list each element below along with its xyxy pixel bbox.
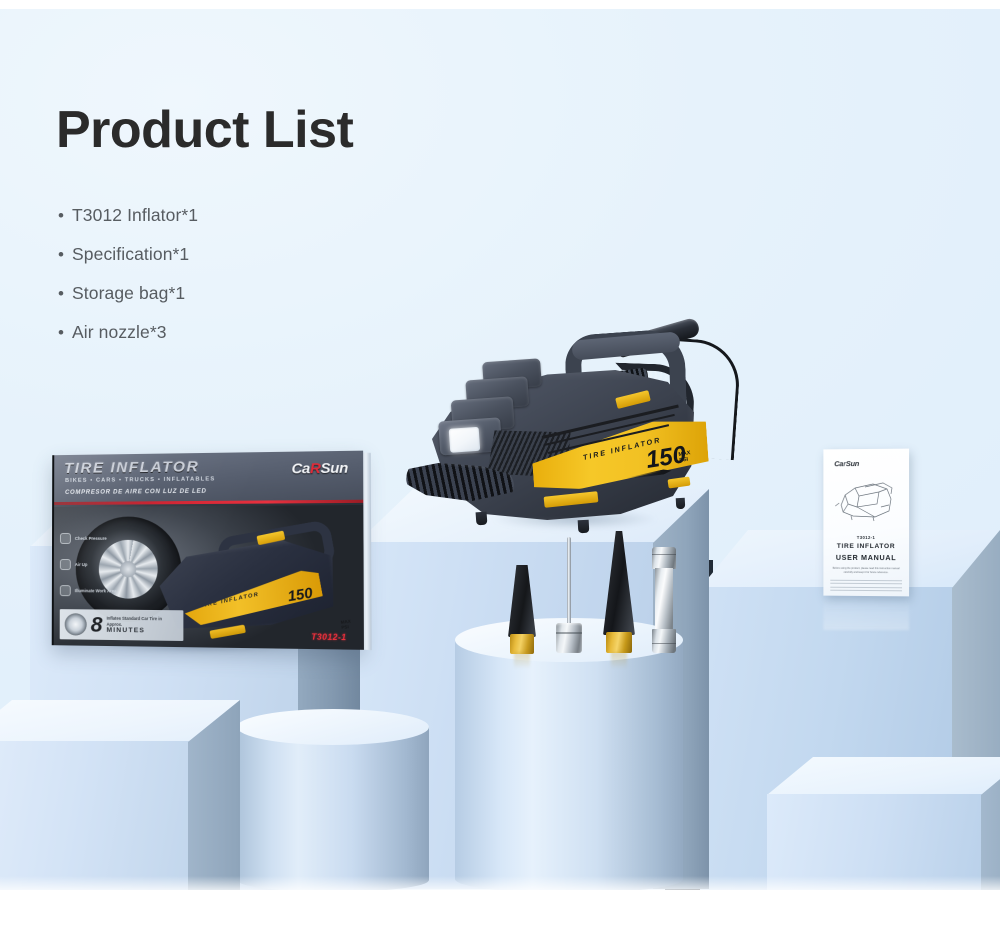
rubber-foot bbox=[476, 512, 488, 526]
yellow-accent-rear bbox=[667, 477, 690, 489]
nozzle-cone-body bbox=[603, 531, 635, 635]
top-white-margin bbox=[0, 0, 1000, 9]
manual-title-line2: USER MANUAL bbox=[823, 553, 909, 562]
bullet-icon: • bbox=[58, 324, 72, 341]
list-item: • Storage bag*1 bbox=[58, 283, 388, 304]
box-front-face: Check Pressure Air Up Illuminate Work Ar… bbox=[52, 451, 364, 650]
cone-nozzle-long bbox=[603, 531, 635, 653]
manual-reflection bbox=[823, 596, 909, 630]
nozzle-needle-shaft bbox=[567, 537, 571, 627]
nozzle-brass-base bbox=[606, 632, 632, 653]
podium-front-left-block bbox=[0, 700, 240, 892]
cylinder-body bbox=[237, 727, 429, 892]
manual-brand-suffix: Sun bbox=[846, 459, 859, 468]
podium-top-face bbox=[767, 757, 1000, 795]
manual-brand-prefix: Ca bbox=[834, 459, 843, 468]
needle-nozzle bbox=[556, 537, 582, 653]
manual-text-rules bbox=[830, 580, 902, 594]
nozzle-steel-base bbox=[556, 623, 582, 653]
bullet-icon: • bbox=[58, 285, 72, 302]
podium-front-right-block bbox=[767, 757, 1000, 893]
page-title: Product List bbox=[56, 100, 353, 160]
list-item-label: Storage bag*1 bbox=[72, 283, 185, 304]
inflator-psi-unit: MAX PSI bbox=[678, 450, 692, 464]
retail-box-packaging: Check Pressure Air Up Illuminate Work Ar… bbox=[52, 451, 364, 650]
nozzle-brass-base bbox=[510, 634, 534, 654]
bullet-icon: • bbox=[58, 246, 72, 263]
podium-front-cylinder bbox=[237, 709, 429, 892]
list-item: • Specification*1 bbox=[58, 244, 388, 265]
rubber-foot bbox=[578, 520, 590, 534]
list-item-label: Specification*1 bbox=[72, 244, 189, 265]
manual-product-line-drawing bbox=[835, 475, 897, 525]
podium-center-cylinder bbox=[455, 618, 683, 893]
nozzle-cone-body bbox=[508, 565, 536, 637]
product-list-items: • T3012 Inflator*1 • Specification*1 • S… bbox=[58, 205, 388, 361]
cylinder-body bbox=[455, 640, 683, 893]
list-item: • Air nozzle*3 bbox=[58, 322, 388, 343]
user-manual-booklet: CarSun T3012-1 TIRE INFLATOR USER MANUAL… bbox=[823, 449, 909, 597]
bullet-icon: • bbox=[58, 207, 72, 224]
list-item: • T3012 Inflator*1 bbox=[58, 205, 388, 226]
nozzle-reflection bbox=[611, 652, 627, 669]
nozzle-chrome-cap bbox=[652, 547, 676, 569]
psi-unit-label: PSI bbox=[679, 457, 689, 464]
box-gloss-sheen bbox=[54, 451, 364, 650]
bottom-white-margin bbox=[0, 890, 1000, 926]
product-list-scene: CarSun T3012-1 TIRE INFLATOR USER MANUAL… bbox=[0, 0, 1000, 926]
tire-inflator-product: TIRE INFLATOR 150 MAX PSI bbox=[420, 318, 730, 543]
manual-brand-logo: CarSun bbox=[834, 459, 859, 468]
led-work-light-icon bbox=[449, 427, 481, 453]
manual-body-text: Before using the product, please read th… bbox=[831, 567, 901, 575]
rubber-foot bbox=[676, 498, 686, 509]
nozzle-chrome-shaft bbox=[655, 568, 673, 630]
cylinder-top-face bbox=[237, 709, 429, 745]
cone-nozzle-short bbox=[508, 565, 536, 653]
list-item-label: Air nozzle*3 bbox=[72, 322, 167, 343]
nozzle-reflection bbox=[514, 652, 530, 669]
chrome-adapter-nozzle bbox=[652, 547, 676, 653]
nozzle-chrome-foot bbox=[652, 629, 676, 653]
manual-title-line1: TIRE INFLATOR bbox=[823, 543, 909, 550]
manual-model-code: T3012-1 bbox=[823, 535, 909, 540]
list-item-label: T3012 Inflator*1 bbox=[72, 205, 198, 226]
podium-front-face bbox=[0, 741, 189, 892]
